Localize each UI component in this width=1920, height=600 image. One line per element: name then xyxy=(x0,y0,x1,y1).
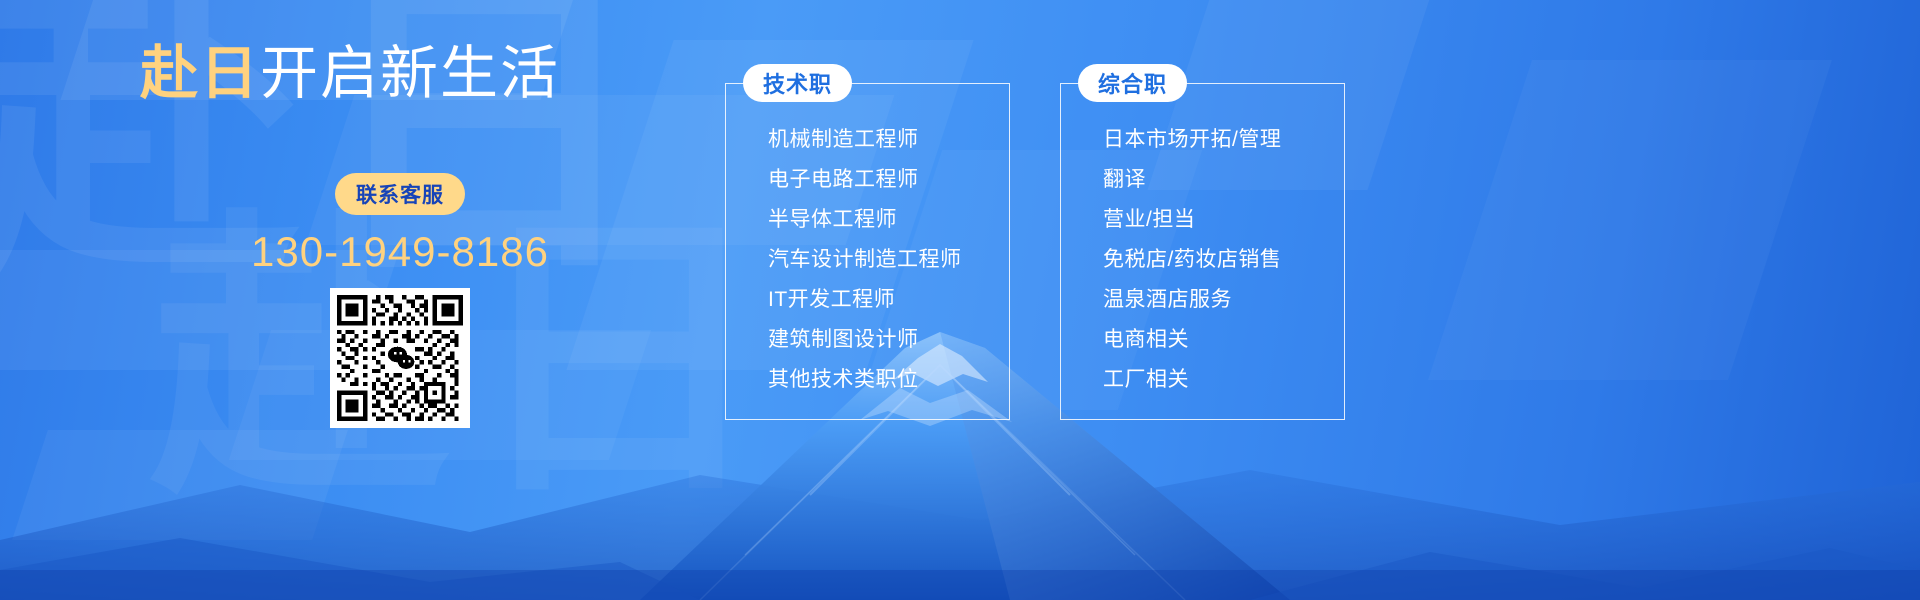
list-item[interactable]: 电商相关 xyxy=(1103,320,1344,360)
list-item[interactable]: 电子电路工程师 xyxy=(768,160,1009,200)
list-item[interactable]: 营业/担当 xyxy=(1103,200,1344,240)
headline-main: 开启新生活 xyxy=(260,41,560,106)
contact-support-button[interactable]: 联系客服 xyxy=(335,173,465,215)
list-item[interactable]: 半导体工程师 xyxy=(768,200,1009,240)
list-item[interactable]: 机械制造工程师 xyxy=(768,120,1009,160)
list-item[interactable]: IT开发工程师 xyxy=(768,280,1009,320)
job-list-box-technical: 机械制造工程师 电子电路工程师 半导体工程师 汽车设计制造工程师 IT开发工程师… xyxy=(725,83,1010,420)
list-item[interactable]: 其他技术类职位 xyxy=(768,360,1009,400)
job-category-badge-technical[interactable]: 技术职 xyxy=(743,64,852,102)
job-list-technical: 机械制造工程师 电子电路工程师 半导体工程师 汽车设计制造工程师 IT开发工程师… xyxy=(726,120,1009,400)
job-list-box-general: 日本市场开拓/管理 翻译 营业/担当 免税店/药妆店销售 温泉酒店服务 电商相关… xyxy=(1060,83,1345,420)
job-category-badge-general[interactable]: 综合职 xyxy=(1078,64,1187,102)
phone-number[interactable]: 130-1949-8186 xyxy=(0,228,800,276)
job-column-general: 综合职 日本市场开拓/管理 翻译 营业/担当 免税店/药妆店销售 温泉酒店服务 … xyxy=(1060,64,1345,420)
job-column-technical: 技术职 机械制造工程师 电子电路工程师 半导体工程师 汽车设计制造工程师 IT开… xyxy=(725,64,1010,420)
job-list-general: 日本市场开拓/管理 翻译 营业/担当 免税店/药妆店销售 温泉酒店服务 电商相关… xyxy=(1061,120,1344,400)
qr-code-image xyxy=(337,295,463,421)
list-item[interactable]: 免税店/药妆店销售 xyxy=(1103,240,1344,280)
left-content-panel: 赴日开启新生活 联系客服 130-1949-8186 xyxy=(0,0,700,600)
page-title: 赴日开启新生活 xyxy=(0,42,700,106)
headline-accent: 赴日 xyxy=(140,41,260,106)
promo-banner: 赴日 赴日 xyxy=(0,0,1920,600)
list-item[interactable]: 建筑制图设计师 xyxy=(768,320,1009,360)
list-item[interactable]: 翻译 xyxy=(1103,160,1344,200)
list-item[interactable]: 工厂相关 xyxy=(1103,360,1344,400)
qr-code[interactable] xyxy=(330,288,470,428)
list-item[interactable]: 汽车设计制造工程师 xyxy=(768,240,1009,280)
list-item[interactable]: 温泉酒店服务 xyxy=(1103,280,1344,320)
list-item[interactable]: 日本市场开拓/管理 xyxy=(1103,120,1344,160)
